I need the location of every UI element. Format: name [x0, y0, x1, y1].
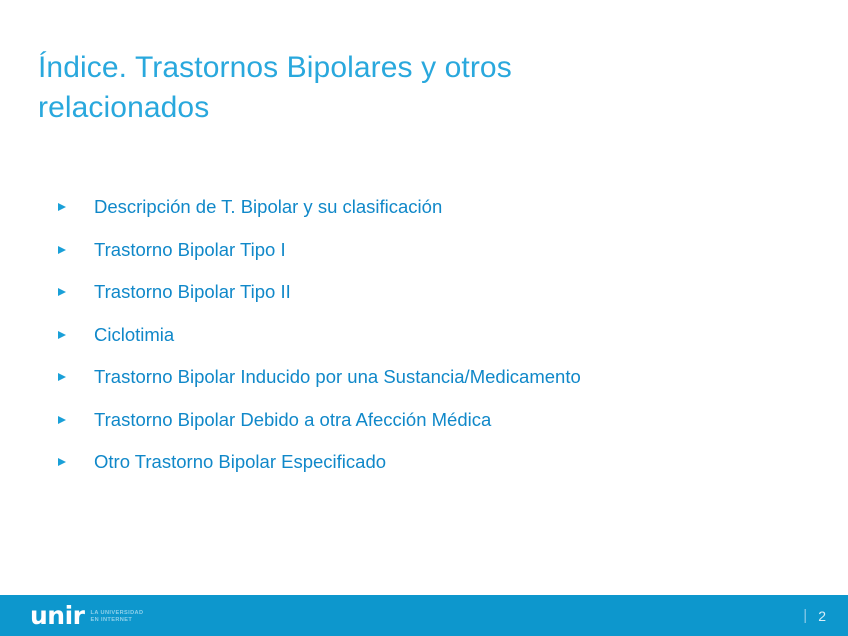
list-item-label: Trastorno Bipolar Debido a otra Afección…	[94, 409, 491, 431]
triangle-right-icon	[58, 373, 66, 381]
unir-logo: unir LA UNIVERSIDAD EN INTERNET	[30, 603, 143, 629]
list-item-label: Otro Trastorno Bipolar Especificado	[94, 451, 386, 473]
page-number: 2	[818, 608, 826, 624]
logo-wordmark: unir	[30, 603, 85, 628]
page-separator: |	[803, 608, 807, 624]
triangle-right-icon	[58, 246, 66, 254]
index-bullet-list: Descripción de T. Bipolar y su clasifica…	[58, 186, 818, 484]
list-item[interactable]: Trastorno Bipolar Tipo II	[58, 271, 818, 314]
list-item[interactable]: Trastorno Bipolar Inducido por una Susta…	[58, 356, 818, 399]
list-item[interactable]: Trastorno Bipolar Tipo I	[58, 229, 818, 272]
list-item-label: Descripción de T. Bipolar y su clasifica…	[94, 196, 442, 218]
list-item-label: Trastorno Bipolar Tipo I	[94, 239, 286, 261]
logo-tagline: LA UNIVERSIDAD EN INTERNET	[91, 608, 144, 624]
triangle-right-icon	[58, 288, 66, 296]
logo-tagline-line2: EN INTERNET	[91, 617, 144, 624]
page-indicator: | 2	[803, 608, 826, 624]
logo-tagline-line1: LA UNIVERSIDAD	[91, 610, 144, 617]
list-item-label: Ciclotimia	[94, 324, 174, 346]
triangle-right-icon	[58, 331, 66, 339]
list-item[interactable]: Trastorno Bipolar Debido a otra Afección…	[58, 399, 818, 442]
triangle-right-icon	[58, 416, 66, 424]
slide-canvas: Índice. Trastornos Bipolares y otros rel…	[0, 0, 848, 636]
list-item-label: Trastorno Bipolar Tipo II	[94, 281, 291, 303]
slide-footer: unir LA UNIVERSIDAD EN INTERNET | 2	[0, 595, 848, 636]
list-item[interactable]: Otro Trastorno Bipolar Especificado	[58, 441, 818, 484]
list-item[interactable]: Descripción de T. Bipolar y su clasifica…	[58, 186, 818, 229]
list-item-label: Trastorno Bipolar Inducido por una Susta…	[94, 366, 581, 388]
page-title: Índice. Trastornos Bipolares y otros rel…	[38, 48, 738, 128]
triangle-right-icon	[58, 203, 66, 211]
list-item[interactable]: Ciclotimia	[58, 314, 818, 357]
triangle-right-icon	[58, 458, 66, 466]
